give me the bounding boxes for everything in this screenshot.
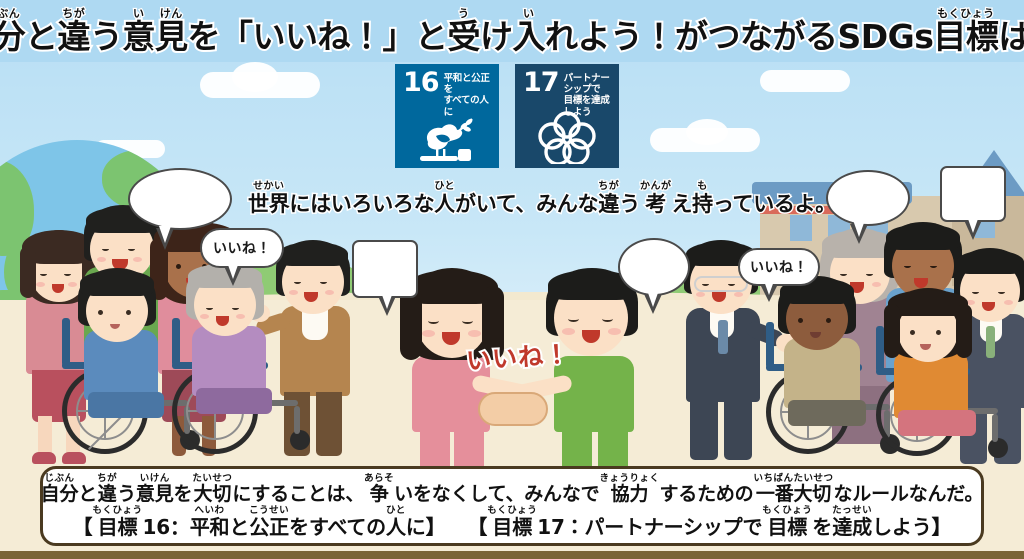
- caption-goal16-base: 【: [73, 517, 93, 538]
- sdg-badge-label-line2: すべての人に: [444, 95, 493, 117]
- cloud-icon: [686, 119, 728, 145]
- title-segment: う受: [447, 8, 480, 55]
- caption-goal16-base: をすべての: [289, 517, 386, 538]
- caption-goal16-base: 目標: [98, 517, 138, 538]
- caption-base: にすることは、: [232, 485, 364, 505]
- caption-goal16-segment: へいわ平和: [190, 506, 230, 538]
- title-base: 意: [122, 20, 155, 55]
- caption-base: 違: [98, 485, 117, 505]
- title-segment: ちが違: [57, 8, 90, 55]
- title-segment: と: [25, 8, 58, 55]
- sdg-badge-16[interactable]: 16 平和と公正を すべての人に: [395, 64, 499, 168]
- caption-segment: じぶん自分: [41, 474, 79, 504]
- caption-goal16-base: 平和: [190, 517, 230, 538]
- narration-base: う: [619, 193, 640, 215]
- title-base: は!?: [998, 20, 1024, 55]
- sdg-badge-label-line1: 平和と公正を: [444, 73, 493, 95]
- caption-segment: いけん意見: [136, 474, 174, 504]
- caption-goal16-segment: こうせい公正: [249, 506, 289, 538]
- caption-goal-17: 【もくひょう目標 17：パートナーシップでもくひょう目標 をたっせい達成 しよう…: [467, 506, 951, 538]
- title-base: 受: [447, 20, 480, 55]
- cloud-icon: [232, 62, 278, 92]
- caption-base: う: [117, 485, 136, 505]
- title-segment: け: [480, 8, 513, 55]
- title-segment: ぶん分: [0, 8, 25, 55]
- caption-base: なルールなんだ。: [834, 485, 984, 505]
- title-segment: れよう！がつながるSDGs: [545, 8, 933, 55]
- caption-goal16-segment: と: [229, 506, 249, 538]
- speech-bubble-empty: [352, 240, 418, 298]
- caption-goal17-base: 目標: [767, 517, 807, 538]
- speech-bubble-empty: [940, 166, 1006, 222]
- speech-bubble-like-left: いいね！: [200, 228, 284, 268]
- sdg-badge-label-line1: パートナーシップで: [564, 73, 613, 95]
- caption-goal16-base: と: [229, 517, 249, 538]
- caption-base: 協力: [611, 485, 649, 505]
- speech-bubble-text: いいね！: [750, 257, 808, 277]
- narration-base: 持: [692, 193, 713, 215]
- caption-goal17-base: しよう】: [872, 517, 951, 538]
- caption-segment: きょうりょく協力: [599, 474, 659, 504]
- narration-segment: にはいろいろな: [289, 182, 434, 215]
- title-segment: い意: [122, 8, 155, 55]
- center-like-text: いいね！: [465, 334, 571, 377]
- narration-segment: ひと人: [434, 182, 455, 215]
- title-base: と: [25, 20, 58, 55]
- title-segment: けん見: [155, 8, 188, 55]
- caption-segment: あらそ争: [364, 474, 394, 504]
- narration-base: っているよ。: [713, 193, 836, 215]
- caption-segment: なルールなんだ。: [834, 474, 984, 504]
- caption-segment: を: [174, 474, 193, 504]
- title-segment: を「いいね！」と: [187, 8, 447, 55]
- caption-goal17-base: 【: [467, 517, 487, 538]
- narration-furigana: も: [697, 182, 708, 192]
- title-base: う: [90, 20, 123, 55]
- caption-goal17-segment: 【: [467, 506, 487, 538]
- caption-segment: う: [117, 474, 136, 504]
- speech-bubble-empty: [128, 168, 232, 230]
- caption-segment: ちが違: [97, 474, 117, 504]
- caption-box: じぶん自分 とちが違 ういけん意見 をたいせつ大切 にすることは、あらそ争 いを…: [40, 466, 984, 546]
- caption-line-1: じぶん自分 とちが違 ういけん意見 をたいせつ大切 にすることは、あらそ争 いを…: [41, 474, 984, 504]
- caption-base: 意見: [136, 485, 174, 505]
- title-base: 見: [155, 20, 188, 55]
- dove-gavel-icon: [395, 116, 499, 164]
- caption-segment: たいせつ大切: [192, 474, 232, 504]
- caption-goal17-segment: もくひょう目標: [762, 506, 812, 538]
- caption-goal16-base: 公正: [249, 517, 289, 538]
- caption-base: するための: [659, 485, 753, 505]
- caption-segment: にすることは、: [232, 474, 364, 504]
- title-segment: う: [90, 8, 123, 55]
- caption-goal17-segment: もくひょう目標: [487, 506, 537, 538]
- caption-goal16-segment: 【: [73, 506, 93, 538]
- caption-goal16-segment: 16：: [143, 506, 190, 538]
- caption-base: 一番大切: [756, 485, 831, 505]
- title-base: 分: [0, 20, 25, 55]
- building-window: [790, 215, 812, 241]
- caption-goal-16: 【もくひょう目標 16：へいわ平和 とこうせい公正 をすべてのひと人 に】: [73, 506, 446, 538]
- narration-base: にはいろいろな: [289, 193, 434, 215]
- caption-segment: と: [78, 474, 97, 504]
- caption-base: 大切: [194, 485, 232, 505]
- sdg-badge-17[interactable]: 17 パートナーシップで 目標を達成しよう: [515, 64, 619, 168]
- handshake-icon: [478, 392, 548, 426]
- title-segment: は!?: [998, 8, 1024, 55]
- title-base: を「いいね！」と: [187, 20, 447, 55]
- narration-base: 違: [598, 193, 619, 215]
- caption-base: を: [174, 485, 193, 505]
- narration-text: せかい世界 にはいろいろなひと人 がいて、みんなちが違 うかんが考 えも持 って…: [248, 182, 836, 215]
- narration-segment: え: [671, 182, 692, 215]
- title-base: け: [480, 20, 513, 55]
- sdg-badge-number: 17: [523, 71, 559, 96]
- title-base: れよう！がつながるSDGs: [545, 20, 933, 55]
- narration-segment: せかい世界: [248, 182, 289, 215]
- caption-line-2: 【もくひょう目標 16：へいわ平和 とこうせい公正 をすべてのひと人 に】 【も…: [73, 506, 952, 538]
- narration-base: 人: [434, 193, 455, 215]
- narration-segment: う: [619, 182, 640, 215]
- caption-segment: いをなくして、みんなで: [394, 474, 599, 504]
- speech-bubble-like-right: いいね！: [738, 248, 820, 286]
- narration-base: 世界: [248, 193, 289, 215]
- speech-bubble-text: いいね！: [213, 238, 271, 258]
- title-band: じ自ぶん分 とちが違 うい意けん見 を「いいね！」とう受 けい入 れよう！がつな…: [0, 0, 1024, 62]
- narration-segment: がいて、みんな: [455, 182, 598, 215]
- caption-base: いをなくして、みんなで: [394, 485, 599, 505]
- sdg-badge-number: 16: [403, 71, 439, 96]
- narration-segment: っているよ。: [713, 182, 836, 215]
- title-base: 違: [57, 20, 90, 55]
- narration-segment: かんが考: [640, 182, 672, 215]
- caption-goal17-base: を: [812, 517, 832, 538]
- caption-goal17-base: 目標: [492, 517, 532, 538]
- narration-furigana: ひと: [434, 182, 455, 192]
- caption-goal16-base: 16：: [143, 517, 190, 538]
- narration-segment: ちが違: [598, 182, 619, 215]
- narration-furigana: かんが: [640, 182, 672, 192]
- caption-goal16-segment: に】: [406, 506, 446, 538]
- caption-goal17-segment: を: [812, 506, 832, 538]
- caption-goal17-segment: たっせい達成: [832, 506, 872, 538]
- narration-segment: も持: [692, 182, 713, 215]
- title-segment: い入: [512, 8, 545, 55]
- caption-goal17-segment: しよう】: [872, 506, 951, 538]
- caption-goal16-segment: ひと人: [386, 506, 406, 538]
- narration-base: がいて、みんな: [455, 193, 598, 215]
- page-title: じ自ぶん分 とちが違 うい意けん見 を「いいね！」とう受 けい入 れよう！がつな…: [0, 8, 1024, 55]
- person-girl-orange-wheelchair: [884, 288, 988, 438]
- caption-goal16-base: に】: [406, 517, 446, 538]
- caption-goal17-segment: 17：パートナーシップで: [537, 506, 762, 538]
- speech-bubble-empty: [826, 170, 910, 226]
- title-base: 目標: [933, 20, 998, 55]
- interlocking-rings-icon: [515, 110, 619, 164]
- narration-base: 考: [645, 193, 666, 215]
- caption-segment: するための: [659, 474, 753, 504]
- title-base: 入: [512, 20, 545, 55]
- caption-base: 争: [370, 485, 389, 505]
- narration-furigana: せかい: [253, 182, 285, 192]
- caption-segment: いちばんたいせつ一番大切: [753, 474, 833, 504]
- cloud-icon: [760, 70, 850, 92]
- speech-bubble-empty: [618, 238, 690, 296]
- caption-goal16-segment: をすべての: [289, 506, 386, 538]
- bottom-strip: [0, 551, 1024, 559]
- sdg-badge-group: 16 平和と公正を すべての人に: [395, 64, 619, 168]
- poster-canvas: いいね！ いいね！ いいね！ じ自ぶん分 とちが違 うい意けん見 を「いいね！」…: [0, 0, 1024, 559]
- caption-base: 自分: [41, 485, 79, 505]
- person-boy-blue-wheelchair: [74, 268, 178, 418]
- caption-goal17-base: 17：パートナーシップで: [537, 517, 762, 538]
- caption-goal16-segment: もくひょう目標: [92, 506, 142, 538]
- caption-base: と: [78, 485, 97, 505]
- title-segment: もくひょう目標: [933, 8, 998, 55]
- narration-base: え: [671, 193, 692, 215]
- person-man-tan-wheelchair: [774, 276, 878, 426]
- narration-furigana: ちが: [598, 182, 619, 192]
- caption-goal17-base: 達成: [832, 517, 872, 538]
- caption-goal16-base: 人: [386, 517, 406, 538]
